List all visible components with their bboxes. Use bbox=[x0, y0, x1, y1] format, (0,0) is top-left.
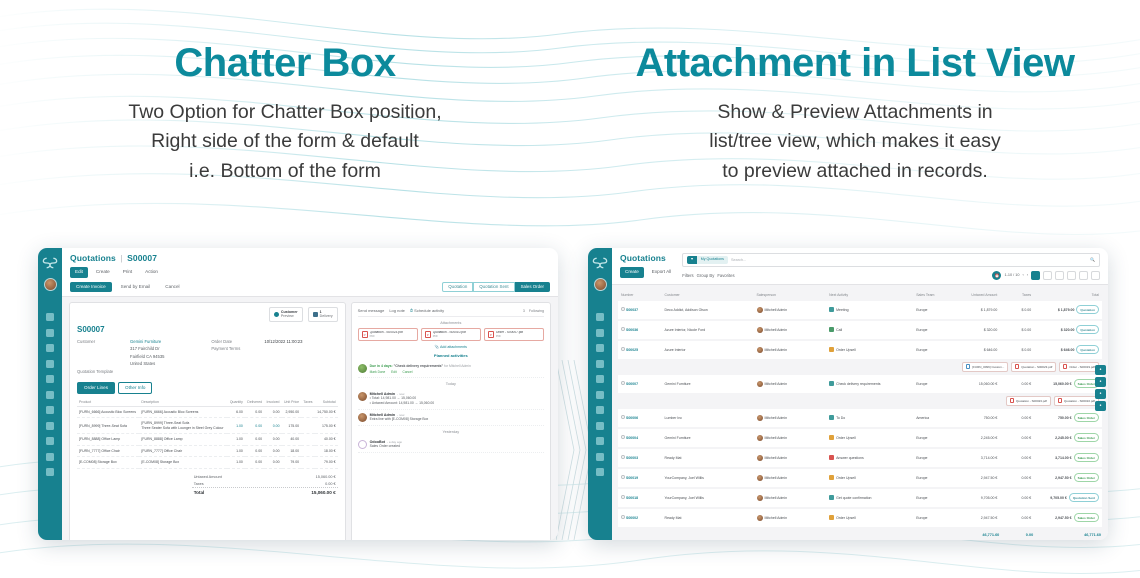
order-line-row[interactable]: [FURN_8999] Three-Seat Sofa[FURN_8999] T… bbox=[77, 418, 338, 434]
avatar bbox=[757, 307, 763, 313]
salesperson-name: Mitchell Admin bbox=[765, 496, 788, 500]
salesperson-wrap: Mitchell Admin bbox=[757, 455, 824, 461]
pdf-icon bbox=[1063, 364, 1067, 369]
expand-icon[interactable]: • bbox=[1095, 389, 1106, 399]
attachment-type: PDF bbox=[433, 335, 466, 338]
record-number[interactable]: S00003 bbox=[626, 456, 638, 460]
record-number[interactable]: S00019 bbox=[626, 476, 638, 480]
view-tool-bar[interactable]: Filters Group By Favorites ⏰ 1-10 / 10 ‹… bbox=[682, 271, 1100, 284]
column-header-next-activity[interactable]: Next Activity bbox=[826, 291, 913, 299]
cell-salesperson: Mitchell Admin bbox=[754, 429, 827, 447]
search-facet[interactable]: ▼ My Quotations bbox=[687, 256, 728, 264]
cell-delivered: 0.00 bbox=[245, 406, 264, 418]
row-checkbox[interactable] bbox=[621, 415, 625, 419]
following-label: Following bbox=[529, 309, 544, 313]
attachments-title: Attachments bbox=[358, 321, 544, 325]
attachment-card[interactable]: PQuotation - S00023.pdfPDF bbox=[358, 328, 418, 341]
smart-button-line1: Customer bbox=[281, 310, 298, 314]
sidebar-icon[interactable] bbox=[596, 313, 604, 321]
attachment-chip-list[interactable]: Quotation - S00023.pdfQuotation - S00010… bbox=[619, 396, 1101, 406]
total-status-wrap: $ 646.00Quotation bbox=[1037, 345, 1099, 354]
message-line: Extra line with [E-COM08] Storage Box bbox=[370, 417, 544, 422]
total-value: $ 320.00 bbox=[1061, 328, 1075, 332]
cell-unit-price: 2,950.00 bbox=[282, 406, 302, 418]
total-row-total: Total15,060.00 € bbox=[192, 487, 338, 496]
record-number[interactable]: S00025 bbox=[626, 348, 638, 352]
activity-edit[interactable]: Edit bbox=[391, 370, 397, 374]
footer-untaxed: 46,771.60 bbox=[952, 529, 1000, 538]
row-checkbox[interactable] bbox=[621, 475, 625, 479]
column-header-salesperson[interactable]: Salesperson bbox=[754, 291, 827, 299]
records-table-body[interactable]: S00037Deco Addict, Addison OlsonMitchell… bbox=[618, 301, 1102, 527]
sidebar-icon[interactable] bbox=[596, 468, 604, 476]
table-row[interactable]: S00003Ready MatMitchell AdminAnswer ques… bbox=[618, 449, 1102, 467]
attachment-chip[interactable]: Quotation - S00023.pdf bbox=[1011, 362, 1056, 372]
cell-product: [E-COM08] Storage Box bbox=[77, 457, 139, 469]
order-line-row[interactable]: [FURN_6666] Acoustic Bloc Screens[FURN_6… bbox=[77, 406, 338, 418]
total-value: 15,060.00 € bbox=[1053, 382, 1072, 386]
cell-invoiced: 0.00 bbox=[264, 457, 281, 469]
total-row-taxes: Taxes0.00 € bbox=[192, 480, 338, 487]
total-status-wrap: 2,245.00 €Sales Order bbox=[1037, 433, 1099, 442]
cell-sales-team: Europe bbox=[913, 341, 952, 359]
pdf-icon bbox=[1015, 364, 1019, 369]
tab-other-info[interactable]: Other Info bbox=[118, 382, 152, 394]
pager[interactable]: ⏰ 1-10 / 10 ‹ › bbox=[992, 271, 1100, 280]
list-button-export-all[interactable]: Export All bbox=[647, 267, 676, 278]
column-header-sales-team[interactable]: Sales Team bbox=[913, 291, 952, 299]
salesperson-wrap: Mitchell Admin bbox=[757, 435, 824, 441]
cell-untaxed-amount: 15,060.00 € bbox=[952, 375, 1000, 393]
app-sidebar-left[interactable] bbox=[38, 248, 62, 540]
workflow-button-send-by-email[interactable]: Send by Email bbox=[115, 282, 157, 293]
total-label: Taxes bbox=[194, 482, 204, 486]
record-number[interactable]: S00018 bbox=[626, 496, 638, 500]
field-label bbox=[77, 361, 130, 368]
search-input[interactable]: ▼ My Quotations Search... 🔍 bbox=[682, 253, 1100, 267]
cell-customer: Deco Addict, Addison Olson bbox=[662, 301, 754, 319]
cell-untaxed-amount: $ 646.00 bbox=[952, 341, 1000, 359]
message-text: • Total: 14,981.00 → 15,060.00• Untaxed … bbox=[370, 396, 544, 406]
record-number[interactable]: S00004 bbox=[626, 436, 638, 440]
field-row: CustomerGemini Furniture bbox=[77, 339, 203, 346]
record-number[interactable]: S00006 bbox=[626, 416, 638, 420]
column-header-untaxed-amount[interactable]: Untaxed Amount bbox=[952, 291, 1000, 299]
column-header-taxes[interactable]: Taxes bbox=[301, 398, 314, 407]
attachment-card[interactable]: POrder - S00007.pdfPDF bbox=[484, 328, 544, 341]
cell-line: [FURN_7777] Office Chair bbox=[79, 449, 137, 454]
chatter-followers[interactable]: 3 Following bbox=[523, 309, 544, 313]
column-header-product[interactable]: Product bbox=[77, 398, 139, 407]
sidebar-icon-list[interactable] bbox=[596, 313, 604, 476]
chatter-action-bar[interactable]: Send message Log note ⏱ Schedule activit… bbox=[358, 308, 544, 317]
cell-line: 0.00 bbox=[266, 460, 279, 465]
tab-order-lines[interactable]: Order Lines bbox=[77, 382, 115, 394]
attachment-chip[interactable]: [FURN_0096] Custom... bbox=[962, 362, 1008, 372]
record-number[interactable]: S00036 bbox=[626, 328, 638, 332]
control-panel: Quotations CreateExport All ▼ My Quotati… bbox=[612, 248, 1108, 285]
cell-line: 175.00 bbox=[284, 424, 300, 429]
avatar bbox=[757, 381, 763, 387]
cell-sales-team: Europe bbox=[913, 489, 952, 507]
order-line-row[interactable]: [FURN_7777] Office Chair[FURN_7777] Offi… bbox=[77, 445, 338, 457]
salesperson-name: Mitchell Admin bbox=[765, 308, 788, 312]
form-button-edit[interactable]: Edit bbox=[70, 267, 88, 278]
footer-spacer bbox=[913, 529, 952, 538]
row-checkbox[interactable] bbox=[621, 381, 625, 385]
cell-number[interactable]: S00007 bbox=[618, 375, 662, 393]
activity-mark-done[interactable]: Mark Done bbox=[370, 370, 386, 374]
pdf-icon: P bbox=[425, 331, 431, 338]
cell-number[interactable]: S00025 bbox=[618, 341, 662, 359]
table-row[interactable]: S00018YourCompany, Joel WillisMitchell A… bbox=[618, 489, 1102, 507]
cell-number[interactable]: S00006 bbox=[618, 409, 662, 427]
pager-next[interactable]: › bbox=[1027, 273, 1028, 277]
activity-assignee: for Mitchell Admin bbox=[444, 364, 471, 368]
breadcrumb[interactable]: Quotations bbox=[620, 253, 676, 263]
sidebar-icon[interactable] bbox=[596, 344, 604, 352]
cell-salesperson: Mitchell Admin bbox=[754, 301, 827, 319]
sidebar-icon[interactable] bbox=[596, 391, 604, 399]
message-avatar bbox=[358, 392, 367, 401]
avatar bbox=[757, 515, 763, 521]
sidebar-icon[interactable] bbox=[596, 453, 604, 461]
avatar bbox=[757, 415, 763, 421]
view-switch-graph[interactable] bbox=[1079, 271, 1088, 280]
record-number[interactable]: S00002 bbox=[626, 516, 638, 520]
table-row[interactable]: S00007Gemini FurnitureMitchell AdminChec… bbox=[618, 375, 1102, 393]
cell-invoiced: 0.00 bbox=[264, 418, 281, 434]
cell-number[interactable]: S00019 bbox=[618, 469, 662, 487]
cell-number[interactable]: S00018 bbox=[618, 489, 662, 507]
status-quotation[interactable]: Quotation bbox=[442, 282, 473, 292]
cell-total-status: $ 646.00Quotation bbox=[1034, 341, 1102, 359]
grid-icon[interactable]: • bbox=[1095, 401, 1106, 411]
cell-total-status: 2,947.50 €Sales Order bbox=[1034, 469, 1102, 487]
cell-quantity: 6.00 bbox=[227, 406, 244, 418]
cell-number[interactable]: S00037 bbox=[618, 301, 662, 319]
sidebar-icon[interactable] bbox=[46, 453, 54, 461]
cell-taxes: 0.00 € bbox=[1000, 469, 1034, 487]
row-checkbox[interactable] bbox=[621, 495, 625, 499]
activity-avatar bbox=[358, 364, 367, 373]
salesperson-name: Mitchell Admin bbox=[765, 516, 788, 520]
table-row[interactable]: S00019YourCompany, Joel WillisMitchell A… bbox=[618, 469, 1102, 487]
settings-icon[interactable]: • bbox=[1095, 365, 1106, 375]
avatar[interactable] bbox=[44, 278, 57, 291]
activity-label: Order Upsell bbox=[836, 348, 856, 352]
app-sidebar-right[interactable] bbox=[588, 248, 612, 540]
message-avatar bbox=[358, 440, 367, 449]
search-icon[interactable]: • bbox=[1095, 377, 1106, 387]
app-logo-icon bbox=[592, 255, 608, 271]
sidebar-icon[interactable] bbox=[46, 468, 54, 476]
attachment-chip-list[interactable]: [FURN_0096] Custom...Quotation - S00023.… bbox=[619, 362, 1101, 372]
smart-button-bar[interactable]: CustomerPreview1Delivery bbox=[77, 307, 338, 321]
chatter-send-message[interactable]: Send message bbox=[358, 308, 385, 313]
status-quotation-sent[interactable]: Quotation Sent bbox=[473, 282, 514, 292]
cell-taxes: 0.00 € bbox=[1000, 509, 1034, 527]
attachment-chip[interactable]: Quotation - S00023.pdf bbox=[1006, 396, 1051, 406]
row-checkbox[interactable] bbox=[621, 515, 625, 519]
row-checkbox[interactable] bbox=[621, 347, 625, 351]
column-header-customer[interactable]: Customer bbox=[662, 291, 754, 299]
table-row[interactable]: S00006Lumber IncMitchell AdminTo DoAmeri… bbox=[618, 409, 1102, 427]
sidebar-icon[interactable] bbox=[596, 422, 604, 430]
avatar[interactable] bbox=[594, 278, 607, 291]
table-row[interactable]: S00036Azure Interior, Nicole FordMitchel… bbox=[618, 321, 1102, 339]
sidebar-icon[interactable] bbox=[46, 375, 54, 383]
sidebar-icon[interactable] bbox=[46, 329, 54, 337]
cell-number[interactable]: S00004 bbox=[618, 429, 662, 447]
column-header-number[interactable]: Number bbox=[618, 291, 662, 299]
column-header-subtotal[interactable]: Subtotal bbox=[315, 398, 338, 407]
cell-line: [FURN_6666] Acoustic Bloc Screens bbox=[141, 410, 225, 415]
cell-taxes bbox=[301, 445, 314, 457]
pdf-icon: P bbox=[488, 331, 494, 338]
sidebar-icon[interactable] bbox=[596, 329, 604, 337]
form-button-print[interactable]: Print bbox=[118, 267, 137, 278]
field-label bbox=[77, 354, 130, 361]
cell-line: 18.00 € bbox=[317, 449, 336, 454]
activity-wrap: Order Upsell bbox=[829, 475, 910, 480]
row-checkbox[interactable] bbox=[621, 455, 625, 459]
activity-label: Order Upsell bbox=[836, 516, 856, 520]
planned-activities-title: Planned activities bbox=[358, 353, 544, 358]
status-badge: Sales Order bbox=[1074, 513, 1099, 522]
cell-customer: Ready Mat bbox=[662, 509, 754, 527]
cell-number[interactable]: S00002 bbox=[618, 509, 662, 527]
text-line: to preview attached in records. bbox=[570, 157, 1140, 186]
cell-delivered: 0.00 bbox=[245, 445, 264, 457]
sidebar-icon[interactable] bbox=[46, 344, 54, 352]
activity-actions[interactable]: Mark Done Edit Cancel bbox=[370, 370, 544, 374]
status-badge: Sales Order bbox=[1074, 433, 1099, 442]
sidebar-icon[interactable] bbox=[596, 360, 604, 368]
smart-button-1[interactable]: 1Delivery bbox=[308, 307, 338, 321]
column-header-total[interactable]: Total bbox=[1034, 291, 1102, 299]
list-button-create[interactable]: Create bbox=[620, 267, 644, 278]
day-separator-today: Today bbox=[358, 382, 544, 386]
field-value[interactable]: Gemini Furniture bbox=[130, 339, 161, 346]
search-icon[interactable]: 🔍 bbox=[1090, 257, 1095, 262]
sidebar-icon[interactable] bbox=[596, 437, 604, 445]
view-switch-list[interactable] bbox=[1031, 271, 1040, 280]
field-row: Order Date10/12/2022 11:00:23 bbox=[211, 339, 337, 346]
search-bar[interactable]: ▼ My Quotations Search... 🔍 bbox=[682, 253, 1100, 267]
attachment-card[interactable]: PQuotation - S00010.pdfPDF bbox=[421, 328, 481, 341]
message-list-today: Mitchell Admin- now• Total: 14,981.00 → … bbox=[358, 389, 544, 426]
cell-taxes: 0.00 € bbox=[1000, 409, 1034, 427]
view-switch-kanban[interactable] bbox=[1043, 271, 1052, 280]
sidebar-icon[interactable] bbox=[46, 406, 54, 414]
pager-previous[interactable]: ‹ bbox=[1022, 273, 1023, 277]
attachment-text: Order - S00007.pdfPDF bbox=[496, 331, 523, 338]
column-header-description[interactable]: Description bbox=[139, 398, 227, 407]
totals-block: Untaxed Amount15,060.00 €Taxes0.00 €Tota… bbox=[192, 473, 338, 496]
activity-wrap: Get quote confirmation bbox=[829, 495, 910, 500]
filters-dropdown[interactable]: Filters bbox=[682, 273, 693, 278]
sidebar-icon[interactable] bbox=[46, 437, 54, 445]
form-button-action[interactable]: Action bbox=[140, 267, 163, 278]
activity-label: Check delivery requirements bbox=[836, 382, 880, 386]
activity-cancel[interactable]: Cancel bbox=[403, 370, 413, 374]
chatter-schedule-activity[interactable]: ⏱ Schedule activity bbox=[410, 308, 444, 313]
breadcrumb-record: S00007 bbox=[127, 253, 157, 263]
sidebar-icon[interactable] bbox=[596, 406, 604, 414]
truck-icon bbox=[313, 312, 318, 317]
breadcrumb[interactable]: Quotations | S00007 bbox=[70, 253, 550, 263]
attachment-chip[interactable]: Quotation - S00010.pdf bbox=[1054, 396, 1099, 406]
activity-label: Meeting bbox=[836, 308, 848, 312]
salesperson-name: Mitchell Admin bbox=[765, 456, 788, 460]
group-by-dropdown[interactable]: Group By bbox=[697, 273, 715, 278]
sidebar-icon-list[interactable] bbox=[46, 313, 54, 476]
total-label: Untaxed Amount bbox=[194, 475, 222, 479]
cell-customer: Lumber Inc bbox=[662, 409, 754, 427]
cell-total-status: $ 1,879.00Quotation bbox=[1034, 301, 1102, 319]
cell-line: [FURN_7777] Office Chair bbox=[141, 449, 225, 454]
chatter-log-note[interactable]: Log note bbox=[389, 308, 405, 313]
row-checkbox[interactable] bbox=[621, 327, 625, 331]
cell-salesperson: Mitchell Admin bbox=[754, 321, 827, 339]
cell-next-activity: Check delivery requirements bbox=[826, 375, 913, 393]
cell-line: 40.00 € bbox=[317, 437, 336, 442]
cell-salesperson: Mitchell Admin bbox=[754, 375, 827, 393]
add-attachments-button[interactable]: 📎 Add attachments bbox=[358, 345, 544, 349]
total-value: 15,060.00 € bbox=[316, 475, 336, 479]
sidebar-icon[interactable] bbox=[596, 375, 604, 383]
notebook-tabs[interactable]: Order LinesOther Info bbox=[77, 382, 338, 394]
column-header-taxes[interactable]: Taxes bbox=[1000, 291, 1034, 299]
salesperson-name: Mitchell Admin bbox=[765, 382, 788, 386]
form-view-body: Quotations | S00007 EditCreatePrintActio… bbox=[62, 248, 558, 540]
total-status-wrap: 750.00 €Sales Order bbox=[1037, 413, 1099, 422]
list-view-screenshot: Quotations CreateExport All ▼ My Quotati… bbox=[588, 248, 1108, 540]
form-button-create[interactable]: Create bbox=[91, 267, 115, 278]
total-value: $ 646.00 bbox=[1061, 348, 1075, 352]
avatar bbox=[757, 435, 763, 441]
record-number[interactable]: S00037 bbox=[626, 308, 638, 312]
field-label: Quotation Template bbox=[77, 369, 130, 376]
breadcrumb-root[interactable]: Quotations bbox=[70, 253, 116, 263]
total-row-untaxed-amount: Untaxed Amount15,060.00 € bbox=[192, 473, 338, 480]
list-button-row[interactable]: CreateExport All bbox=[620, 267, 676, 278]
total-value: 2,947.50 € bbox=[1055, 476, 1072, 480]
search-facet-label: My Quotations bbox=[697, 256, 728, 264]
cell-total-status: 3,714.00 €Sales Order bbox=[1034, 449, 1102, 467]
sidebar-icon[interactable] bbox=[46, 391, 54, 399]
cell-subtotal: 175.00 € bbox=[315, 418, 338, 434]
workflow-button-create-invoice[interactable]: Create Invoice bbox=[70, 282, 112, 293]
workflow-button-group[interactable]: Create InvoiceSend by EmailCancel bbox=[70, 282, 189, 293]
view-switch-calendar[interactable] bbox=[1055, 271, 1064, 280]
smart-button-line1: 1 bbox=[320, 310, 333, 314]
cell-sales-team: Europe bbox=[913, 469, 952, 487]
salesperson-name: Mitchell Admin bbox=[765, 436, 788, 440]
attachment-chip-name: Quotation - S00010.pdf bbox=[1064, 399, 1095, 403]
table-row[interactable]: S00004Gemini FurnitureMitchell AdminOrde… bbox=[618, 429, 1102, 447]
row-checkbox[interactable] bbox=[621, 435, 625, 439]
record-number[interactable]: S00007 bbox=[626, 382, 638, 386]
table-row[interactable]: S00002Ready MatMitchell AdminOrder Upsel… bbox=[618, 509, 1102, 527]
message-list-yesterday: OdooBot- a day agoSales Order created bbox=[358, 437, 544, 453]
sidebar-icon[interactable] bbox=[46, 360, 54, 368]
order-line-row[interactable]: [FURN_8888] Office Lamp[FURN_8888] Offic… bbox=[77, 434, 338, 446]
sidebar-icon[interactable] bbox=[46, 313, 54, 321]
cell-line: 0.00 bbox=[266, 424, 279, 429]
salesperson-wrap: Mitchell Admin bbox=[757, 415, 824, 421]
column-header-invoiced[interactable]: Invoiced bbox=[264, 398, 281, 407]
column-header-unit-price[interactable]: Unit Price bbox=[282, 398, 302, 407]
cell-description: [FURN_6666] Acoustic Bloc Screens bbox=[139, 406, 227, 418]
cell-line: 0.00 bbox=[247, 460, 262, 465]
cell-quantity: 1.00 bbox=[227, 445, 244, 457]
field-column-right: Order Date10/12/2022 11:00:23Payment Ter… bbox=[211, 339, 337, 377]
workflow-button-cancel[interactable]: Cancel bbox=[159, 282, 185, 293]
hero-section: Chatter Box Two Option for Chatter Box p… bbox=[0, 0, 1140, 210]
status-bar[interactable]: QuotationQuotation SentSales Order bbox=[442, 282, 550, 292]
favorites-dropdown[interactable]: Favorites bbox=[717, 273, 734, 278]
text-line: Right side of the form & default bbox=[0, 127, 570, 156]
order-lines-body[interactable]: [FURN_6666] Acoustic Bloc Screens[FURN_6… bbox=[77, 406, 338, 468]
cell-number[interactable]: S00036 bbox=[618, 321, 662, 339]
attachment-list[interactable]: PQuotation - S00023.pdfPDFPQuotation - S… bbox=[358, 328, 544, 341]
field-row: Fairfield CA 94535 bbox=[77, 354, 203, 361]
cell-number[interactable]: S00003 bbox=[618, 449, 662, 467]
table-row[interactable]: S00037Deco Addict, Addison OlsonMitchell… bbox=[618, 301, 1102, 319]
cell-product: [FURN_7777] Office Chair bbox=[77, 445, 139, 457]
form-button-row[interactable]: EditCreatePrintAction bbox=[70, 267, 550, 278]
view-switch-pivot[interactable] bbox=[1067, 271, 1076, 280]
hero-left-title: Chatter Box bbox=[0, 42, 570, 84]
activity-subject: "Check delivery requirements" bbox=[394, 364, 444, 368]
cell-sales-team: Europe bbox=[913, 449, 952, 467]
cell-description: [FURN_8999] Three-Seat SofaThree Seater … bbox=[139, 418, 227, 434]
footer-total: 46,771.60 bbox=[1034, 529, 1102, 538]
status-sales-order[interactable]: Sales Order bbox=[515, 282, 550, 292]
hero-right-title: Attachment in List View bbox=[570, 42, 1140, 84]
table-row[interactable]: S00025Azure InteriorMitchell AdminOrder … bbox=[618, 341, 1102, 359]
cell-customer: Ready Mat bbox=[662, 449, 754, 467]
cell-next-activity: Order Upsell bbox=[826, 509, 913, 527]
view-switch-activity[interactable] bbox=[1091, 271, 1100, 280]
smart-button-0[interactable]: CustomerPreview bbox=[269, 307, 303, 321]
sidebar-icon[interactable] bbox=[46, 422, 54, 430]
record-title: S00007 bbox=[77, 325, 338, 334]
cell-untaxed-amount: 2,947.50 € bbox=[952, 469, 1000, 487]
records-table-header[interactable]: NumberCustomerSalespersonNext ActivitySa… bbox=[618, 291, 1102, 299]
cell-taxes bbox=[301, 406, 314, 418]
list-view-body: Quotations CreateExport All ▼ My Quotati… bbox=[612, 248, 1108, 540]
column-header-delivered[interactable]: Delivered bbox=[245, 398, 264, 407]
status-badge: Quotation Sent bbox=[1069, 493, 1099, 502]
total-status-wrap: 15,060.00 €Sales Order bbox=[1037, 379, 1099, 388]
order-line-row[interactable]: [E-COM08] Storage Box[E-COM08] Storage B… bbox=[77, 457, 338, 469]
breadcrumb-root: Quotations bbox=[620, 253, 666, 263]
list-tool-rail[interactable]: •••• bbox=[1095, 365, 1106, 411]
cell-total-status: 2,947.50 €Sales Order bbox=[1034, 509, 1102, 527]
cell-subtotal: 18.00 € bbox=[315, 445, 338, 457]
attachment-chip[interactable]: Order - S00019.pdf bbox=[1059, 362, 1099, 372]
day-separator-yesterday: Yesterday bbox=[358, 430, 544, 434]
total-value: 9,705.00 € bbox=[1050, 496, 1067, 500]
row-checkbox[interactable] bbox=[621, 307, 625, 311]
connector-lines bbox=[556, 360, 592, 540]
column-header-quantity[interactable]: Quantity bbox=[227, 398, 244, 407]
field-value: United States bbox=[130, 361, 155, 368]
cell-taxes: 0.00 € bbox=[1000, 375, 1034, 393]
